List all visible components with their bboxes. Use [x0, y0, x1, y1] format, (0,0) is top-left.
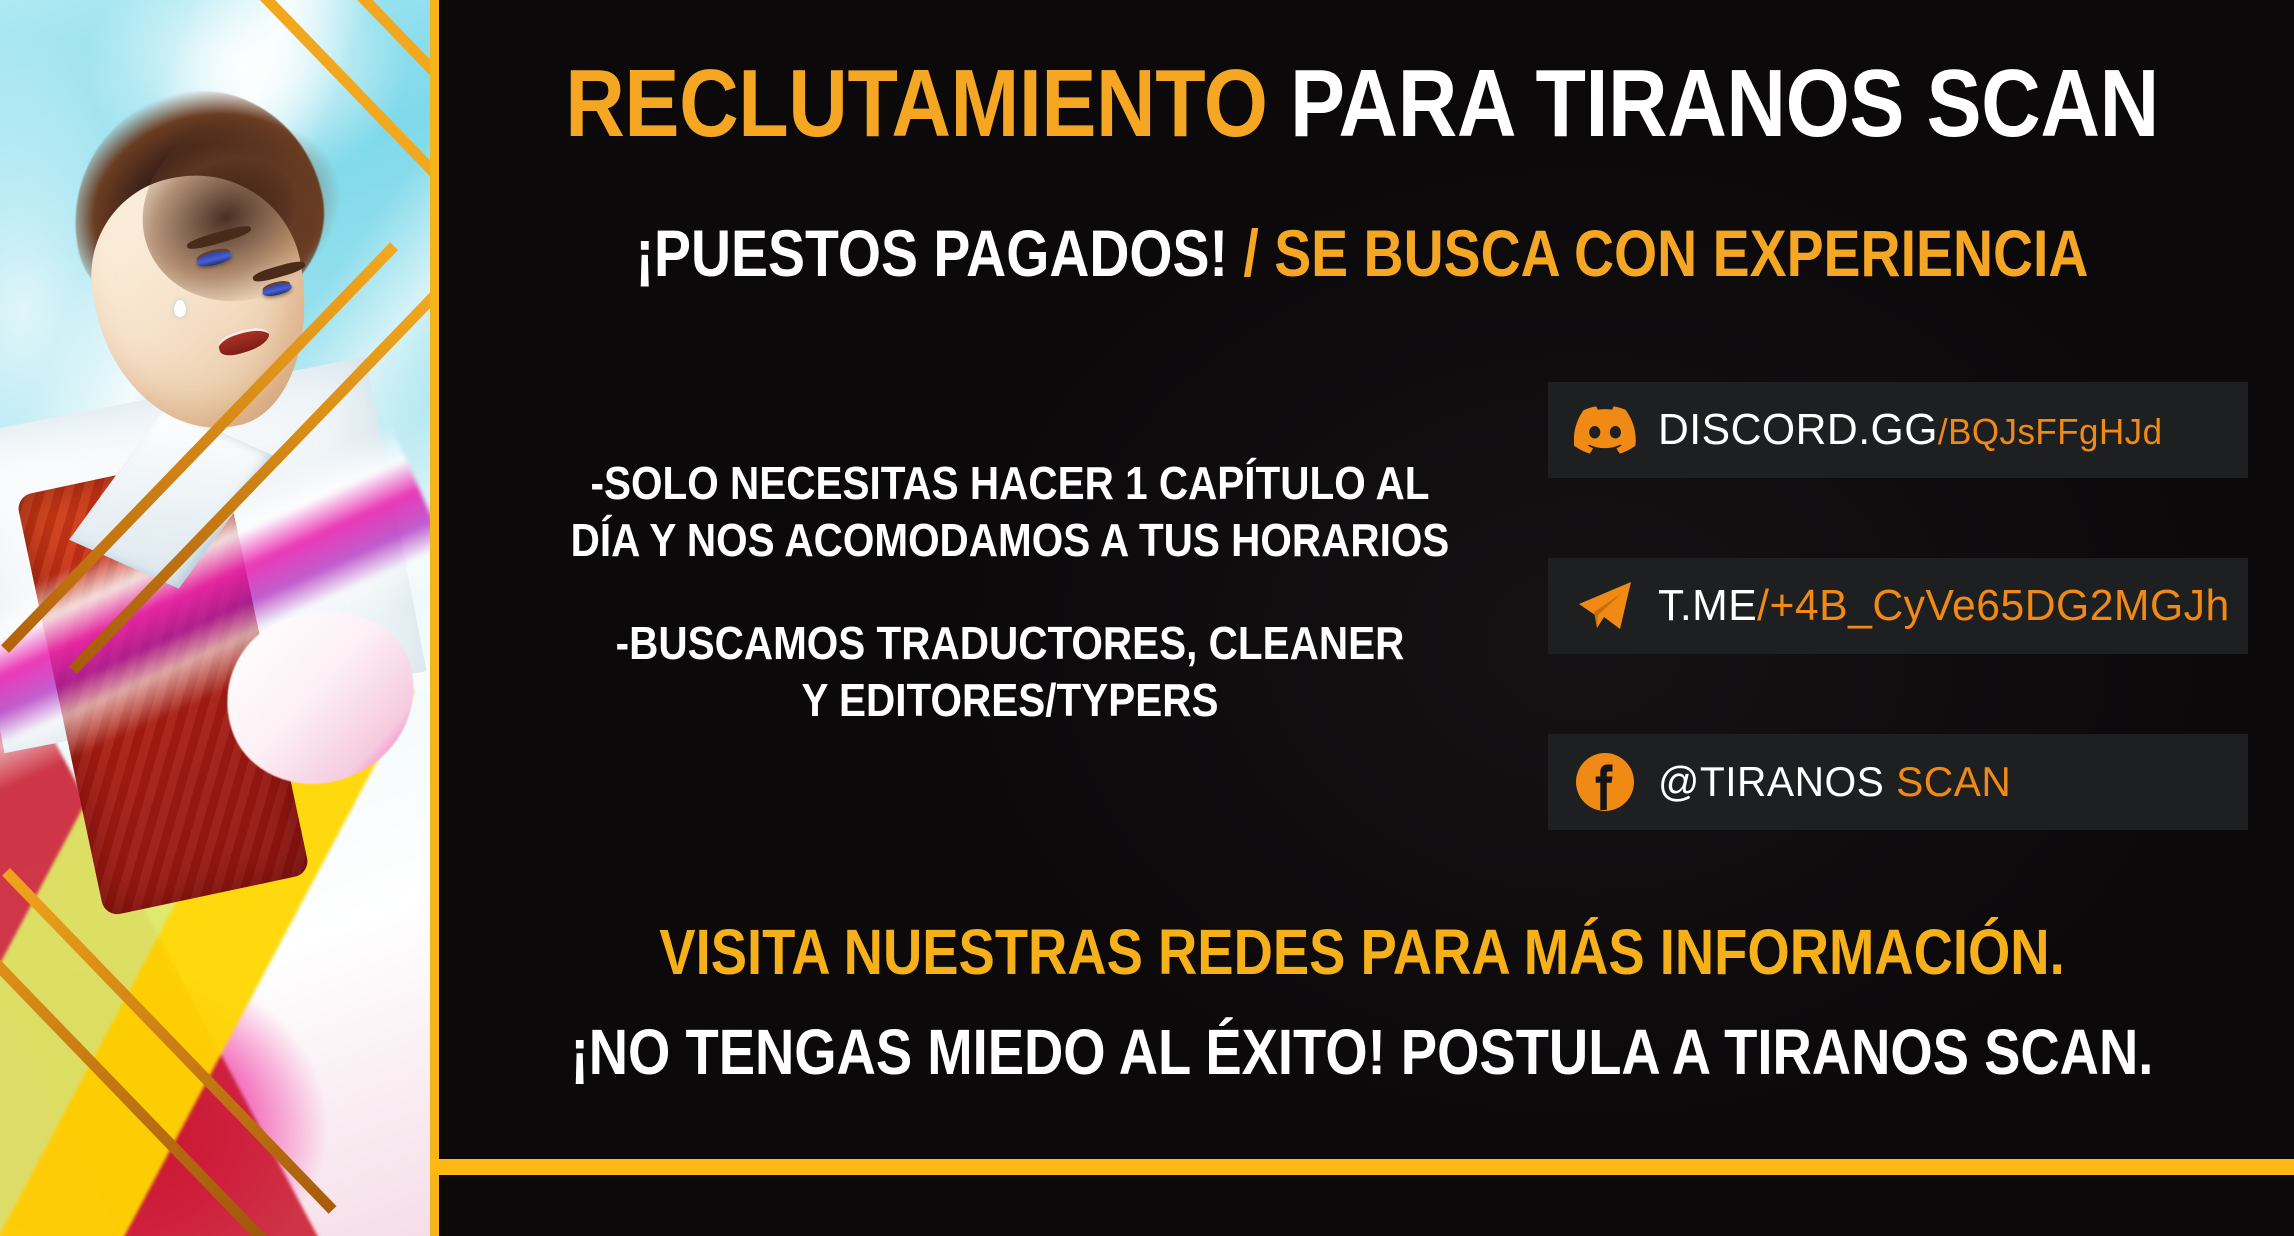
page-title: RECLUTAMIENTO PARA TIRANOS SCAN: [560, 56, 2163, 152]
requirement-line: Y EDITORES/TYPERS: [535, 672, 1485, 729]
telegram-invite-code: /+4B_CyVe65DG2MGJh: [1757, 581, 2230, 630]
call-to-action: VISITA NUESTRAS REDES PARA MÁS INFORMACI…: [430, 920, 2294, 1084]
facebook-handle: @TIRANOS: [1658, 758, 1884, 805]
contact-text-discord: DISCORD.GG/BQJsFFgHJd: [1658, 405, 2163, 455]
telegram-icon: [1574, 575, 1636, 637]
telegram-domain: T.ME: [1658, 581, 1757, 630]
subtitle-experience: / SE BUSCA CON EXPERIENCIA: [1228, 216, 2088, 290]
page-subtitle: ¡PUESTOS PAGADOS! / SE BUSCA CON EXPERIE…: [579, 220, 2145, 286]
recruitment-banner: RECLUTAMIENTO PARA TIRANOS SCAN ¡PUESTOS…: [0, 0, 2294, 1236]
facebook-icon: [1574, 751, 1636, 813]
page-title-highlight: RECLUTAMIENTO: [565, 50, 1267, 157]
discord-icon: [1574, 399, 1636, 461]
requirement-line: DÍA Y NOS ACOMODAMOS A TUS HORARIOS: [535, 512, 1485, 569]
requirement-item: -BUSCAMOS TRADUCTORES, CLEANER Y EDITORE…: [535, 615, 1485, 729]
requirement-line: -BUSCAMOS TRADUCTORES, CLEANER: [535, 615, 1485, 672]
facebook-handle-suffix: SCAN: [1884, 758, 2011, 805]
left-vertical-accent-bar: [430, 0, 439, 1236]
cta-line-2: ¡NO TENGAS MIEDO AL ÉXITO! POSTULA A TIR…: [570, 1020, 2154, 1084]
requirement-line: -SOLO NECESITAS HACER 1 CAPÍTULO AL: [535, 455, 1485, 512]
discord-invite-code: /BQJsFFgHJd: [1938, 411, 2163, 452]
character-artwork: [0, 0, 430, 1236]
page-title-rest: PARA TIRANOS SCAN: [1267, 50, 2158, 157]
contact-card-facebook[interactable]: @TIRANOS SCAN: [1548, 734, 2248, 830]
contact-card-discord[interactable]: DISCORD.GG/BQJsFFgHJd: [1548, 382, 2248, 478]
bottom-accent-rule: [430, 1159, 2294, 1175]
contact-card-telegram[interactable]: T.ME/+4B_CyVe65DG2MGJh: [1548, 558, 2248, 654]
requirements-list: -SOLO NECESITAS HACER 1 CAPÍTULO AL DÍA …: [535, 455, 1485, 729]
subtitle-paid: ¡PUESTOS PAGADOS!: [636, 216, 1228, 290]
cta-line-1: VISITA NUESTRAS REDES PARA MÁS INFORMACI…: [570, 920, 2154, 984]
contact-text-facebook: @TIRANOS SCAN: [1658, 758, 2011, 806]
artwork-sweat-drop: [174, 300, 186, 317]
contact-text-telegram: T.ME/+4B_CyVe65DG2MGJh: [1658, 581, 2230, 631]
discord-domain: DISCORD.GG: [1658, 405, 1938, 454]
requirement-item: -SOLO NECESITAS HACER 1 CAPÍTULO AL DÍA …: [535, 455, 1485, 569]
contact-links: DISCORD.GG/BQJsFFgHJd T.ME/+4B_CyVe65DG2…: [1548, 382, 2248, 830]
